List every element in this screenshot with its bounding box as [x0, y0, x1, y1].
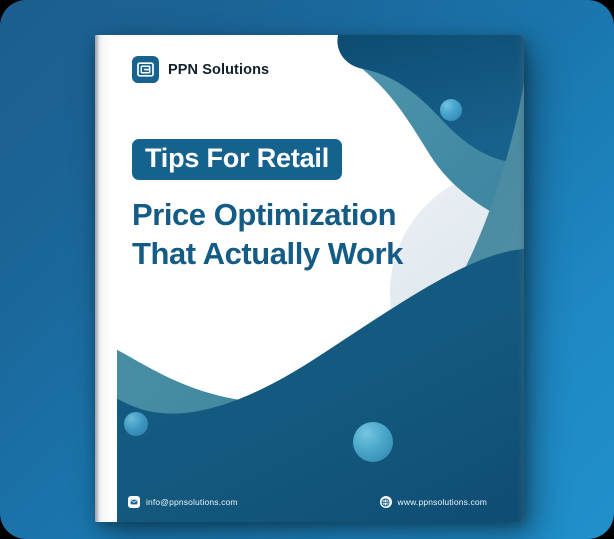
brand-name: PPN Solutions [168, 62, 269, 78]
footer-email[interactable]: info@ppnsolutions.com [128, 496, 238, 508]
footer-email-text: info@ppnsolutions.com [146, 497, 238, 507]
cover-footer: info@ppnsolutions.com www.ppnsolutions.c… [95, 496, 524, 508]
globe-icon [380, 496, 392, 508]
eyebrow-badge: Tips For Retail [132, 139, 342, 180]
footer-website[interactable]: www.ppnsolutions.com [380, 496, 487, 508]
concentric-square-logo-icon [132, 56, 159, 83]
footer-website-text: www.ppnsolutions.com [398, 497, 487, 507]
headline-group: Tips For Retail Price Optimization That … [132, 139, 462, 274]
page-title: Price Optimization That Actually Work [132, 195, 462, 274]
envelope-icon [128, 496, 140, 508]
brand-lockup: PPN Solutions [132, 56, 269, 83]
book-cover: PPN Solutions Tips For Retail Price Opti… [95, 35, 524, 522]
poster-canvas: PPN Solutions Tips For Retail Price Opti… [0, 0, 614, 539]
